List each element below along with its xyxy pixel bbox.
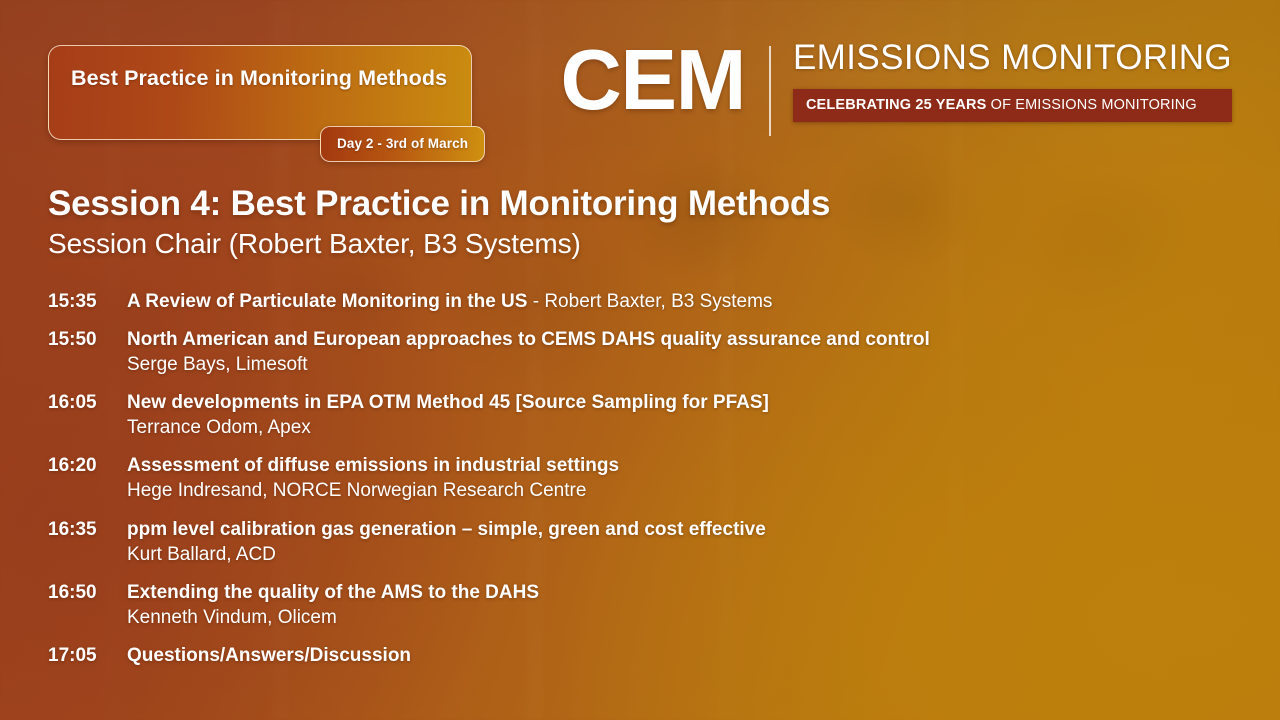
agenda-row-speaker: Hege Indresand, NORCE Norwegian Research… — [127, 478, 1240, 503]
agenda-row-title: Questions/Answers/Discussion — [127, 643, 1240, 668]
anniversary-highlight: CELEBRATING 25 YEARS — [806, 97, 987, 113]
agenda-row-speaker: Kurt Ballard, ACD — [127, 542, 1240, 567]
agenda-row-speaker: Terrance Odom, Apex — [127, 415, 1240, 440]
agenda-row-title-text: Extending the quality of the AMS to the … — [127, 582, 539, 603]
agenda-row-time: 16:50 — [48, 580, 127, 630]
agenda-row-title: Assessment of diffuse emissions in indus… — [127, 453, 1240, 478]
agenda-row-time: 15:50 — [48, 327, 127, 377]
agenda-row-body: Questions/Answers/Discussion — [127, 643, 1240, 668]
agenda-row-title: A Review of Particulate Monitoring in th… — [127, 289, 1240, 314]
agenda-row-title-text: A Review of Particulate Monitoring in th… — [127, 291, 527, 312]
agenda-row-time: 16:05 — [48, 390, 127, 440]
agenda-row-body: North American and European approaches t… — [127, 327, 1240, 377]
agenda-row-title: North American and European approaches t… — [127, 327, 1240, 352]
anniversary-rest: OF EMISSIONS MONITORING — [986, 97, 1196, 113]
session-chair: Session Chair (Robert Baxter, B3 Systems… — [48, 227, 830, 261]
agenda-row-body: Assessment of diffuse emissions in indus… — [127, 453, 1240, 503]
agenda-row-body: Extending the quality of the AMS to the … — [127, 580, 1240, 630]
agenda-row: 16:20Assessment of diffuse emissions in … — [48, 453, 1240, 503]
agenda-row-title: Extending the quality of the AMS to the … — [127, 580, 1240, 605]
cem-wordmark: CEM — [561, 42, 745, 120]
agenda-row-time: 15:35 — [48, 289, 127, 314]
agenda-row-title: New developments in EPA OTM Method 45 [S… — [127, 390, 1240, 415]
agenda-row-title-text: Questions/Answers/Discussion — [127, 645, 411, 666]
agenda-row-title-text: ppm level calibration gas generation – s… — [127, 519, 766, 540]
agenda-row: 15:50North American and European approac… — [48, 327, 1240, 377]
logo-text-block: EMISSIONS MONITORING CELEBRATING 25 YEAR… — [793, 40, 1232, 122]
agenda-row-body: New developments in EPA OTM Method 45 [S… — [127, 390, 1240, 440]
agenda-row: 15:35A Review of Particulate Monitoring … — [48, 289, 1240, 314]
agenda-row: 16:50Extending the quality of the AMS to… — [48, 580, 1240, 630]
agenda-list: 15:35A Review of Particulate Monitoring … — [48, 289, 1240, 681]
agenda-row-title-text: New developments in EPA OTM Method 45 [S… — [127, 392, 769, 413]
agenda-row-speaker: Serge Bays, Limesoft — [127, 352, 1240, 377]
session-theme-label: Best Practice in Monitoring Methods — [71, 63, 449, 94]
agenda-row-time: 16:35 — [48, 517, 127, 567]
agenda-row-time: 17:05 — [48, 643, 127, 668]
agenda-row: 16:05New developments in EPA OTM Method … — [48, 390, 1240, 440]
agenda-row-body: ppm level calibration gas generation – s… — [127, 517, 1240, 567]
agenda-row: 17:05Questions/Answers/Discussion — [48, 643, 1240, 668]
agenda-row: 16:35ppm level calibration gas generatio… — [48, 517, 1240, 567]
agenda-row-body: A Review of Particulate Monitoring in th… — [127, 289, 1240, 314]
cem-logo: CEM EMISSIONS MONITORING CELEBRATING 25 … — [561, 40, 1232, 140]
agenda-row-time: 16:20 — [48, 453, 127, 503]
logo-tagline: EMISSIONS MONITORING — [793, 40, 1232, 77]
day-badge: Day 2 - 3rd of March — [320, 126, 485, 162]
session-heading: Session 4: Best Practice in Monitoring M… — [48, 184, 830, 260]
agenda-row-inline-speaker: - Robert Baxter, B3 Systems — [527, 291, 772, 312]
presentation-slide: Best Practice in Monitoring Methods Day … — [0, 0, 1280, 720]
anniversary-banner: CELEBRATING 25 YEARS OF EMISSIONS MONITO… — [793, 89, 1232, 122]
agenda-row-title: ppm level calibration gas generation – s… — [127, 517, 1240, 542]
session-title: Session 4: Best Practice in Monitoring M… — [48, 184, 830, 225]
logo-divider — [769, 46, 771, 136]
agenda-row-title-text: Assessment of diffuse emissions in indus… — [127, 455, 619, 476]
agenda-row-title-text: North American and European approaches t… — [127, 329, 930, 350]
agenda-row-speaker: Kenneth Vindum, Olicem — [127, 605, 1240, 630]
